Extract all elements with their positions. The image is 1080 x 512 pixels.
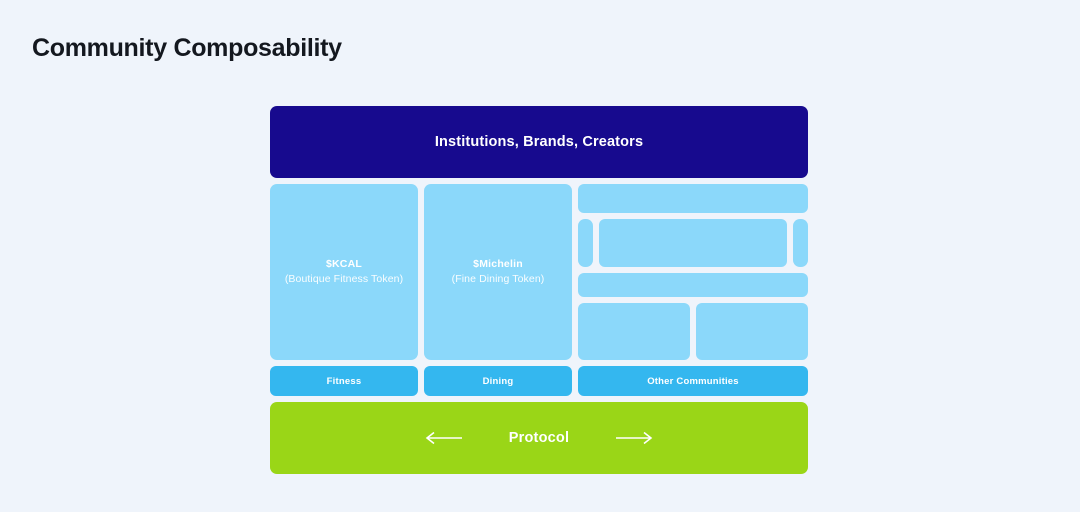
placeholder-block: [696, 303, 808, 360]
category-label-fitness[interactable]: Fitness: [270, 366, 418, 396]
placeholder-block: [578, 273, 808, 297]
institutions-brands-creators-label: Institutions, Brands, Creators: [435, 134, 643, 150]
placeholder-row-1: [578, 184, 808, 213]
protocol-label: Protocol: [509, 430, 569, 446]
category-label-dining[interactable]: Dining: [424, 366, 572, 396]
michelin-token-name: $Michelin: [473, 257, 523, 272]
left-arrow-icon: [425, 431, 463, 445]
community-column-other[interactable]: [578, 184, 808, 360]
community-columns: $KCAL (Boutique Fitness Token) $Michelin…: [270, 184, 808, 360]
placeholder-block: [793, 219, 808, 267]
kcal-token-subtitle: (Boutique Fitness Token): [285, 272, 403, 287]
placeholder-block: [578, 303, 690, 360]
placeholder-row-2: [578, 219, 808, 267]
kcal-token-name: $KCAL: [326, 257, 362, 272]
placeholder-row-4: [578, 303, 808, 360]
placeholder-block: [578, 219, 593, 267]
institutions-brands-creators-bar[interactable]: Institutions, Brands, Creators: [270, 106, 808, 178]
community-column-michelin[interactable]: $Michelin (Fine Dining Token): [424, 184, 572, 360]
placeholder-block: [578, 184, 808, 213]
right-arrow-icon: [615, 431, 653, 445]
category-label-dining-text: Dining: [483, 376, 514, 387]
placeholder-block: [599, 219, 787, 267]
placeholder-row-3: [578, 273, 808, 297]
page-title: Community Composability: [32, 34, 342, 63]
community-column-kcal[interactable]: $KCAL (Boutique Fitness Token): [270, 184, 418, 360]
category-label-other-communities[interactable]: Other Communities: [578, 366, 808, 396]
michelin-token-subtitle: (Fine Dining Token): [452, 272, 545, 287]
category-label-fitness-text: Fitness: [327, 376, 362, 387]
slide-canvas: Community Composability Institutions, Br…: [0, 0, 1080, 512]
category-label-other-communities-text: Other Communities: [647, 376, 739, 387]
composability-diagram: Institutions, Brands, Creators $KCAL (Bo…: [270, 106, 808, 474]
category-label-row: Fitness Dining Other Communities: [270, 366, 808, 396]
protocol-bar[interactable]: Protocol: [270, 402, 808, 474]
